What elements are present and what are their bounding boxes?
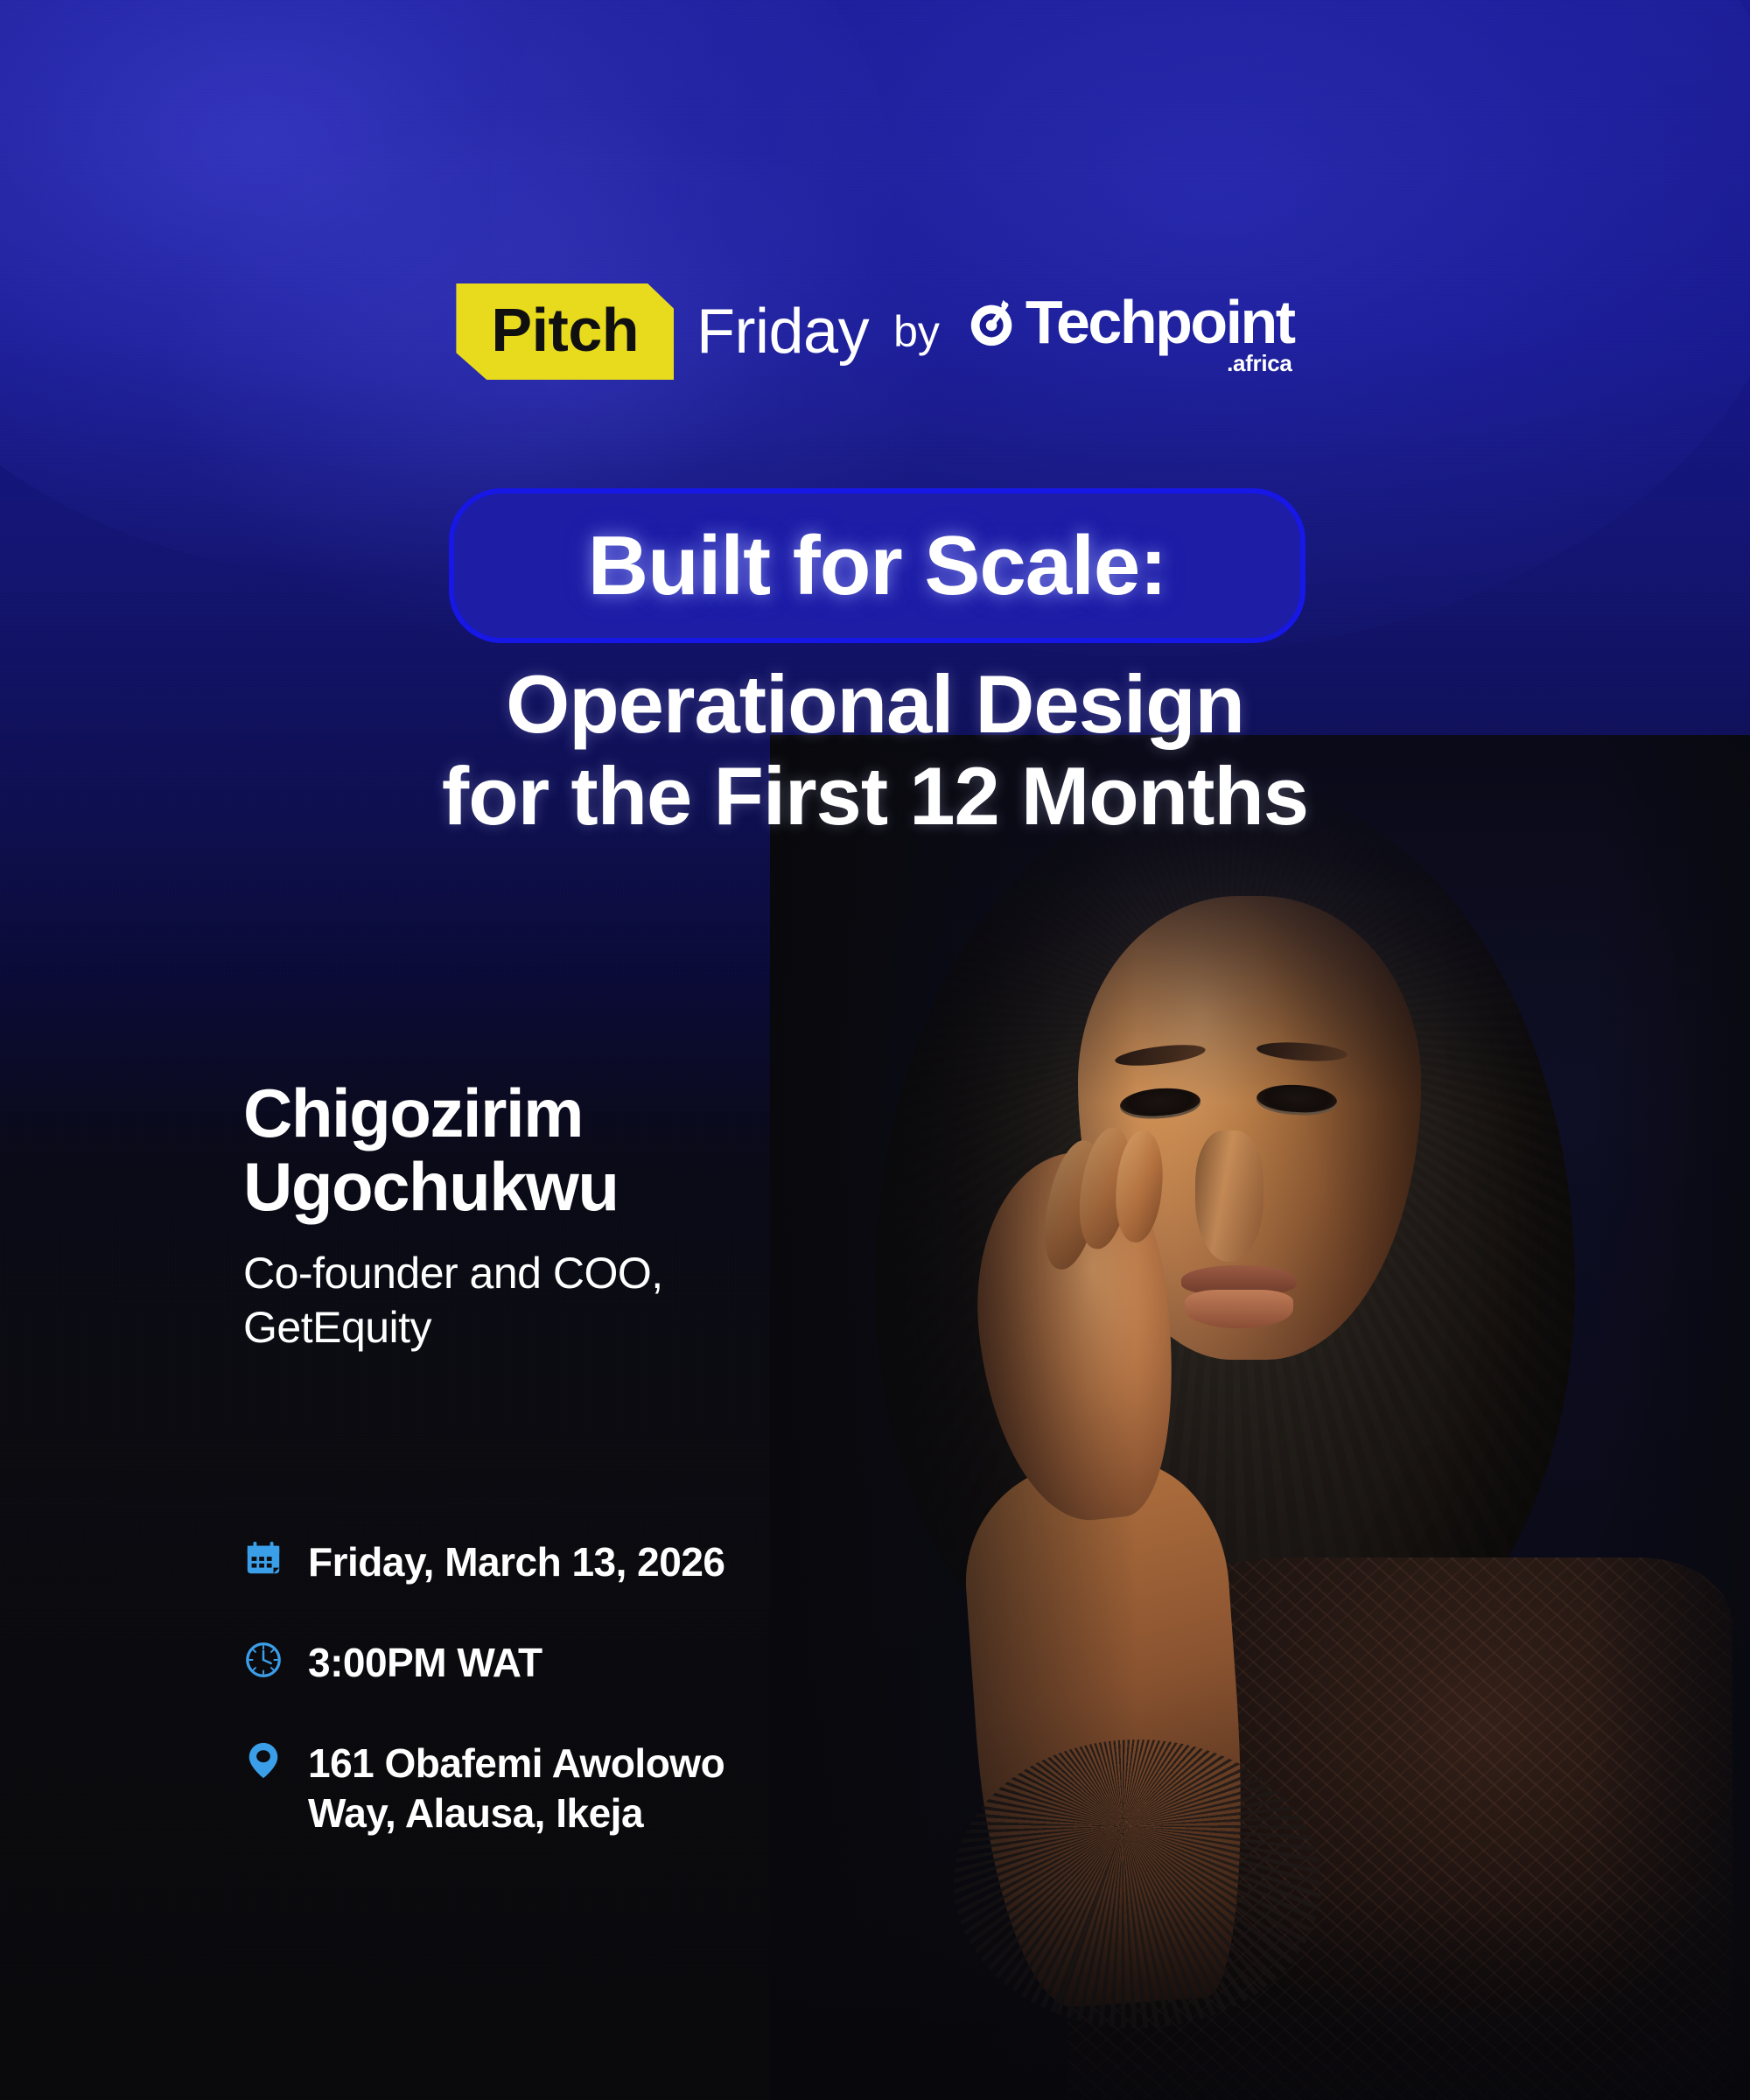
location-pin-icon (243, 1737, 283, 1784)
event-details: Friday, March 13, 2026 (243, 1536, 856, 1838)
brand-logo-lockup: Pitch Friday by Techpoint .africa (0, 283, 1750, 380)
calendar-icon (243, 1536, 283, 1583)
detail-date-text: Friday, March 13, 2026 (308, 1536, 725, 1587)
speaker-block: Chigozirim Ugochukwu Co-founder and COO,… (243, 1076, 891, 1354)
techpoint-wordmark: Techpoint (1025, 287, 1294, 357)
friday-wordmark: Friday (696, 296, 869, 367)
speaker-role: Co-founder and COO, GetEquity (243, 1246, 891, 1354)
photo-nose (1195, 1130, 1263, 1262)
photo-lower-lip (1185, 1290, 1293, 1328)
detail-location-line-2: Way, Alausa, Ikeja (308, 1788, 724, 1838)
speaker-name: Chigozirim Ugochukwu (243, 1076, 891, 1223)
clock-icon (243, 1636, 283, 1683)
subtitle-line-2: for the First 12 Months (0, 750, 1750, 842)
speaker-name-line-1: Chigozirim (243, 1076, 891, 1150)
speaker-name-line-2: Ugochukwu (243, 1150, 891, 1223)
title-subtitle: Operational Design for the First 12 Mont… (0, 658, 1750, 843)
bullseye-target-icon (966, 295, 1020, 349)
by-label: by (893, 306, 940, 357)
techpoint-main: Techpoint (966, 287, 1294, 357)
detail-row-location: 161 Obafemi Awolowo Way, Alausa, Ikeja (243, 1737, 856, 1838)
pitch-badge: Pitch (456, 283, 674, 380)
speaker-company: GetEquity (243, 1300, 891, 1354)
title-highlight-pill: Built for Scale: (449, 488, 1305, 643)
detail-location-line-1: 161 Obafemi Awolowo (308, 1739, 724, 1788)
detail-location-text: 161 Obafemi Awolowo Way, Alausa, Ikeja (308, 1737, 724, 1838)
speaker-role-line-1: Co-founder and COO, (243, 1246, 891, 1300)
detail-row-time: 3:00PM WAT (243, 1636, 856, 1688)
detail-row-date: Friday, March 13, 2026 (243, 1536, 856, 1587)
photo-fade-bottom (770, 1890, 1750, 2100)
techpoint-tld: .africa (1227, 350, 1292, 377)
title-highlight-text: Built for Scale: (588, 518, 1166, 614)
detail-time-text: 3:00PM WAT (308, 1636, 542, 1688)
speaker-photo (770, 735, 1750, 2100)
event-poster: Pitch Friday by Techpoint .africa B (0, 0, 1750, 2100)
subtitle-line-1: Operational Design (0, 658, 1750, 750)
techpoint-logo: Techpoint .africa (966, 287, 1294, 377)
